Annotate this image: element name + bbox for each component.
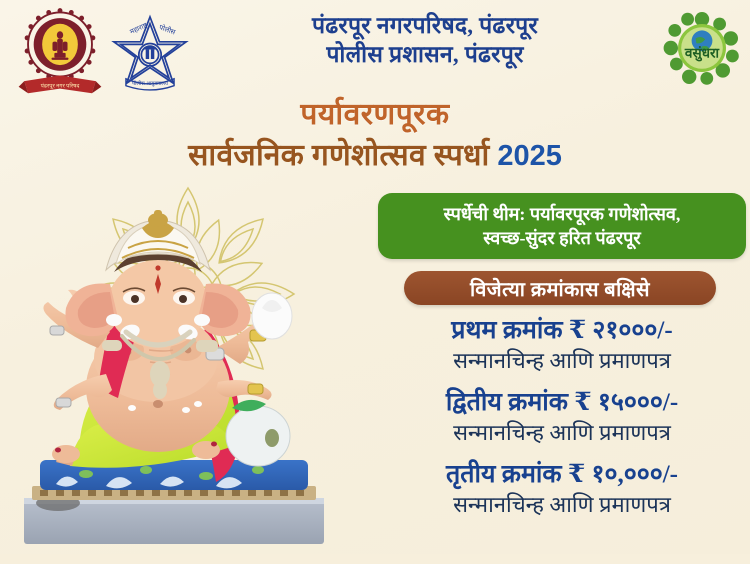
theme-line-2: स्वच्छ-सुंदर हरित पंढरपूर <box>483 226 640 250</box>
prize-sub-first: सन्मानचिन्ह आणि प्रमाणपत्र <box>378 347 746 375</box>
svg-text:पोलीस आयुक्तालय: पोलीस आयुक्तालय <box>132 80 169 87</box>
org-line-1: पंढरपूर नगरपरिषद, पंढरपूर <box>205 12 645 41</box>
poster-canvas: पंढरपूर नगर परिषद पोलीस आयुक्तालय महाराष… <box>0 0 750 564</box>
organisation-names: पंढरपूर नगरपरिषद, पंढरपूर पोलीस प्रशासन,… <box>205 12 645 70</box>
svg-text:पंढरपूर नगर परिषद: पंढरपूर नगर परिषद <box>41 82 81 90</box>
prize-item-first: प्रथम क्रमांक ₹ २१०००/- सन्मानचिन्ह आणि … <box>378 316 746 374</box>
title-line-2-text: सार्वजनिक गणेशोत्सव स्पर्धा <box>188 139 489 172</box>
svg-text:वसुंधरा: वसुंधरा <box>684 46 720 62</box>
poster-title: पर्यावरणपूरक सार्वजनिक गणेशोत्सव स्पर्धा… <box>0 96 750 175</box>
prize-amount-first: प्रथम क्रमांक ₹ २१०००/- <box>378 316 746 347</box>
prize-item-third: तृतीय क्रमांक ₹ १०,०००/- सन्मानचिन्ह आणि… <box>378 460 746 518</box>
theme-banner: स्पर्धेची थीम: पर्यावरपूरक गणेशोत्सव, स्… <box>378 193 746 259</box>
prize-item-second: द्वितीय क्रमांक ₹ १५०००/- सन्मानचिन्ह आण… <box>378 388 746 446</box>
prize-heading-pill: विजेत्या क्रमांकास बक्षिसे <box>404 271 716 305</box>
svg-text:पोलीस: पोलीस <box>158 22 177 36</box>
poster-header: पंढरपूर नगर परिषद पोलीस आयुक्तालय महाराष… <box>0 0 750 100</box>
ganesha-illustration <box>0 172 390 564</box>
prize-heading-label: विजेत्या क्रमांकास बक्षिसे <box>470 275 650 302</box>
pandharpur-nagarparishad-logo: पंढरपूर नगर परिषद <box>12 4 108 98</box>
maharashtra-police-logo: पोलीस आयुक्तालय महाराष्ट्र पोलीस <box>104 10 196 96</box>
prize-amount-third: तृतीय क्रमांक ₹ १०,०००/- <box>378 460 746 491</box>
ganesha-idol-photo <box>10 198 340 558</box>
title-year: 2025 <box>497 140 562 172</box>
title-line-2: सार्वजनिक गणेशोत्सव स्पर्धा 2025 <box>0 136 750 176</box>
org-line-2: पोलीस प्रशासन, पंढरपूर <box>205 41 645 70</box>
prize-list: प्रथम क्रमांक ₹ २१०००/- सन्मानचिन्ह आणि … <box>378 316 746 532</box>
prize-amount-second: द्वितीय क्रमांक ₹ १५०००/- <box>378 388 746 419</box>
prize-sub-third: सन्मानचिन्ह आणि प्रमाणपत्र <box>378 491 746 519</box>
prize-sub-second: सन्मानचिन्ह आणि प्रमाणपत्र <box>378 419 746 447</box>
theme-line-1: स्पर्धेची थीम: पर्यावरपूरक गणेशोत्सव, <box>444 202 681 226</box>
bottom-strip <box>0 554 750 564</box>
title-line-1: पर्यावरणपूरक <box>0 96 750 134</box>
green-earth-logo: वसुंधरा <box>662 8 742 88</box>
